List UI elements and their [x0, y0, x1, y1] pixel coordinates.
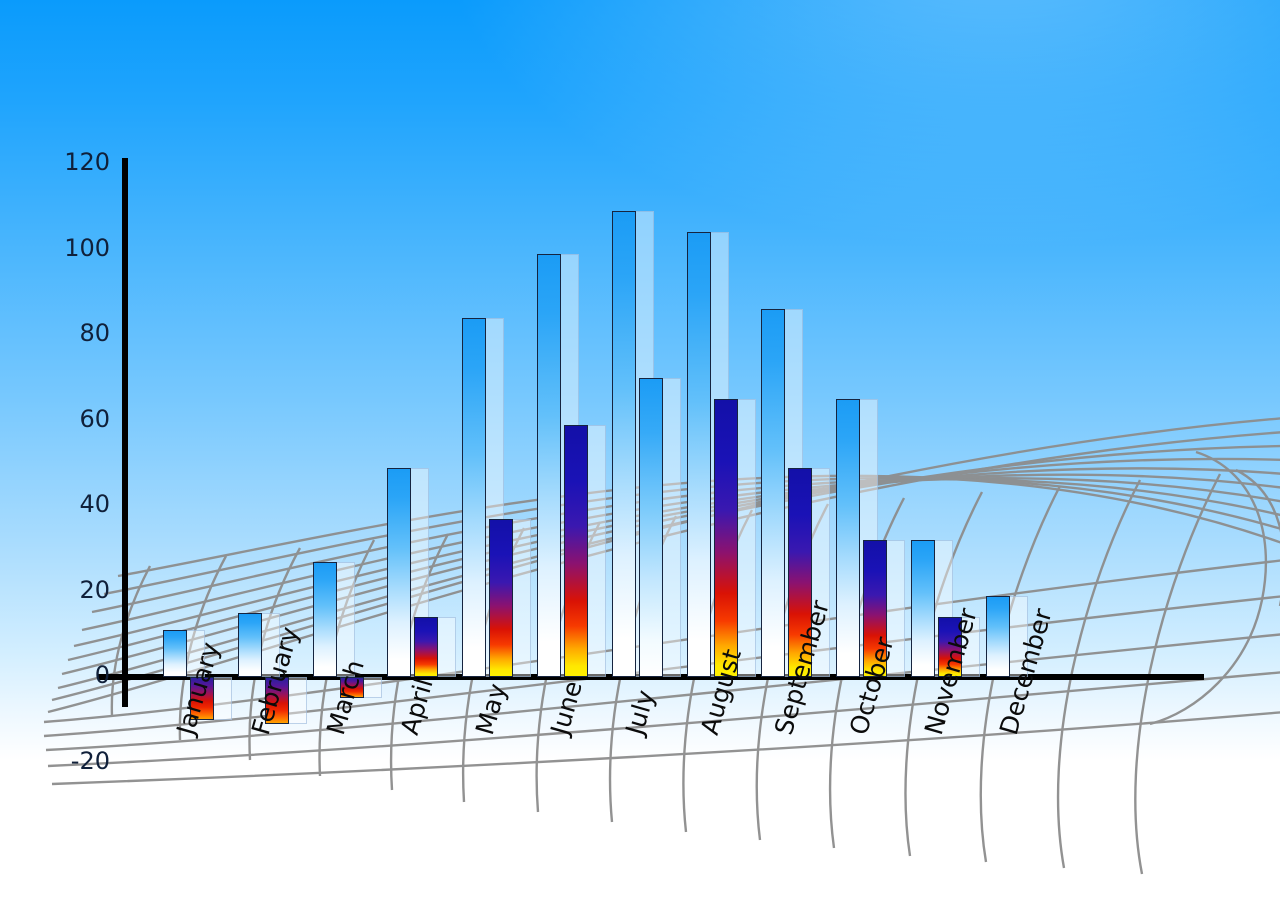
chart-canvas: 120100806040200-20JanuaryFebruaryMarchAp… — [0, 0, 1280, 905]
bar-face — [238, 613, 262, 677]
bar-series1-august[interactable] — [687, 232, 711, 677]
bar-face — [462, 318, 486, 677]
y-axis-tick-label: 40 — [30, 490, 110, 518]
x-axis-label-june: June — [545, 678, 588, 738]
bar-series1-june[interactable] — [537, 254, 561, 677]
y-axis-tick-label: 80 — [30, 319, 110, 347]
bar-series1-july[interactable] — [612, 211, 636, 677]
bar-series1-december[interactable] — [986, 596, 1010, 677]
bar-series1-september[interactable] — [761, 309, 785, 677]
x-axis-label-april: April — [395, 675, 439, 738]
bar-face — [612, 211, 636, 677]
bar-face — [687, 232, 711, 677]
bar-series1-april[interactable] — [387, 468, 411, 677]
y-axis-tick-label: 100 — [30, 234, 110, 262]
bar-series1-january[interactable] — [163, 630, 187, 677]
bar-face — [489, 519, 513, 677]
y-axis-tick-label: 0 — [30, 661, 110, 689]
bar-series2-july[interactable] — [639, 378, 663, 677]
y-axis-tick-label: 120 — [30, 148, 110, 176]
bar-face — [414, 617, 438, 677]
y-axis-tick-label: 60 — [30, 405, 110, 433]
bar-face — [564, 425, 588, 677]
y-axis-tick-label: -20 — [30, 747, 110, 775]
bars-and-axis: 120100806040200-20JanuaryFebruaryMarchAp… — [0, 0, 1280, 905]
x-axis-label-may: May — [470, 680, 512, 738]
bar-face — [986, 596, 1010, 677]
bar-face — [313, 562, 337, 677]
bar-face — [714, 399, 738, 677]
bar-series2-may[interactable] — [489, 519, 513, 677]
bar-face — [163, 630, 187, 677]
bar-series2-june[interactable] — [564, 425, 588, 677]
bar-face — [639, 378, 663, 677]
bar-series1-november[interactable] — [911, 540, 935, 677]
x-axis-label-july: July — [620, 687, 660, 738]
bar-series1-february[interactable] — [238, 613, 262, 677]
bar-face — [911, 540, 935, 677]
bar-face — [387, 468, 411, 677]
bar-series1-march[interactable] — [313, 562, 337, 677]
y-axis-tick-label: 20 — [30, 576, 110, 604]
bar-series2-april[interactable] — [414, 617, 438, 677]
y-axis-line — [122, 158, 128, 707]
bar-face — [836, 399, 860, 677]
bar-series1-october[interactable] — [836, 399, 860, 677]
bar-face — [761, 309, 785, 677]
bar-series2-august[interactable] — [714, 399, 738, 677]
bar-series1-may[interactable] — [462, 318, 486, 677]
bar-face — [537, 254, 561, 677]
